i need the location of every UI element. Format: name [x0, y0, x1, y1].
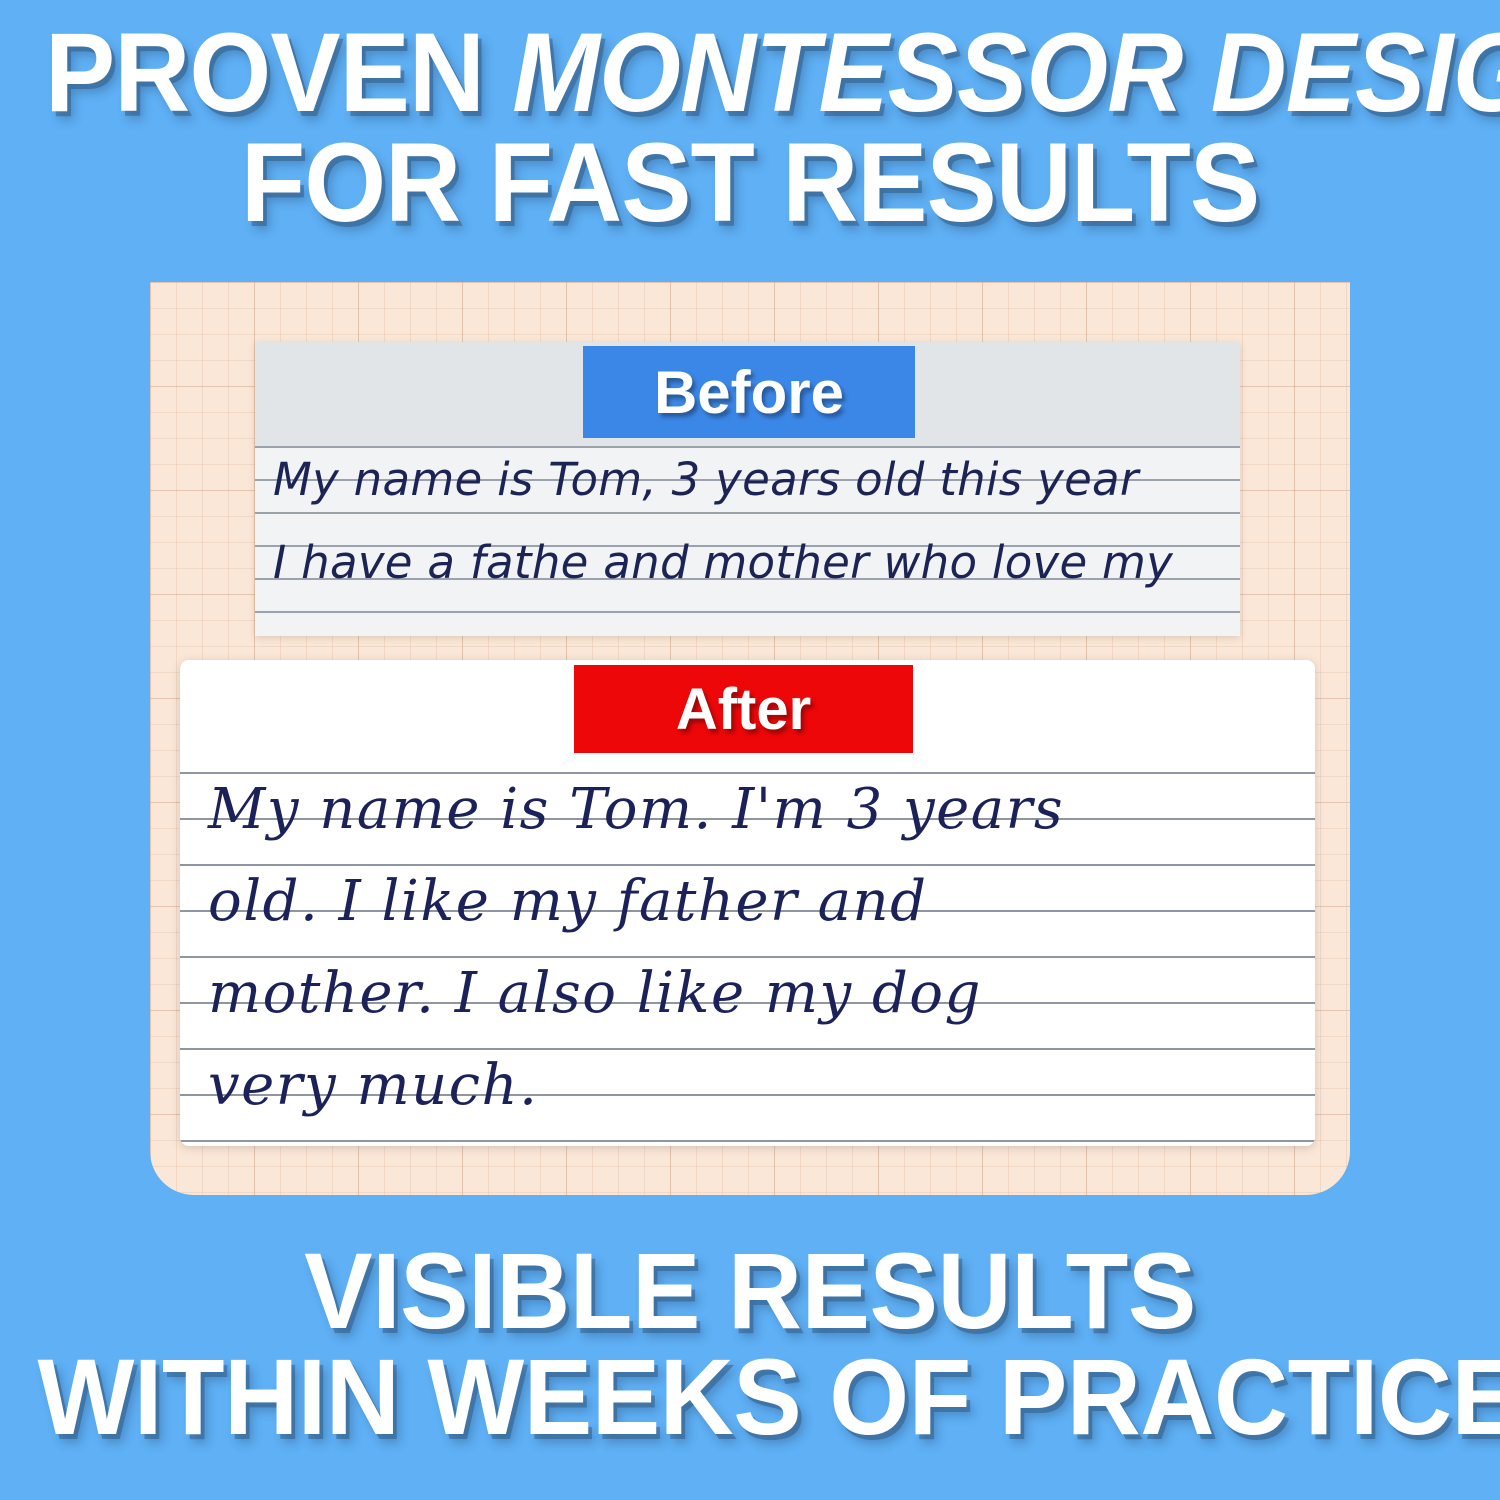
before-handwriting-line-2: I have a fathe and mother who love my — [273, 536, 1226, 589]
footer-line-1: VISIBLE RESULTS — [38, 1238, 1463, 1344]
footer-line-2: WITHIN WEEKS OF PRACTICE — [38, 1344, 1463, 1450]
after-badge: After — [574, 665, 913, 753]
before-handwriting: My name is Tom, 3 years old this year I … — [255, 446, 1240, 636]
after-handwriting: My name is Tom. I'm 3 years old. I like … — [180, 764, 1315, 1146]
before-handwriting-line-1: My name is Tom, 3 years old this year — [273, 453, 1226, 506]
headline-line-2: FOR FAST RESULTS — [45, 128, 1455, 238]
headline-line-1: PROVEN MONTESSOR DESIGN — [45, 18, 1455, 128]
after-handwriting-line-2: old. I like my father and — [208, 856, 1315, 948]
paper-card: My name is Tom, 3 years old this year I … — [150, 282, 1350, 1195]
footer: VISIBLE RESULTS WITHIN WEEKS OF PRACTICE — [0, 1238, 1500, 1450]
after-handwriting-line-3: mother. I also like my dog — [208, 948, 1315, 1040]
headline-line-1-italic: MONTESSOR DESIGN — [512, 10, 1500, 135]
after-handwriting-line-1: My name is Tom. I'm 3 years — [208, 764, 1315, 856]
after-handwriting-line-4: very much. — [208, 1040, 1315, 1132]
before-badge: Before — [583, 346, 915, 438]
headline: PROVEN MONTESSOR DESIGN FOR FAST RESULTS — [0, 18, 1500, 238]
headline-line-1-prefix: PROVEN — [45, 10, 512, 135]
